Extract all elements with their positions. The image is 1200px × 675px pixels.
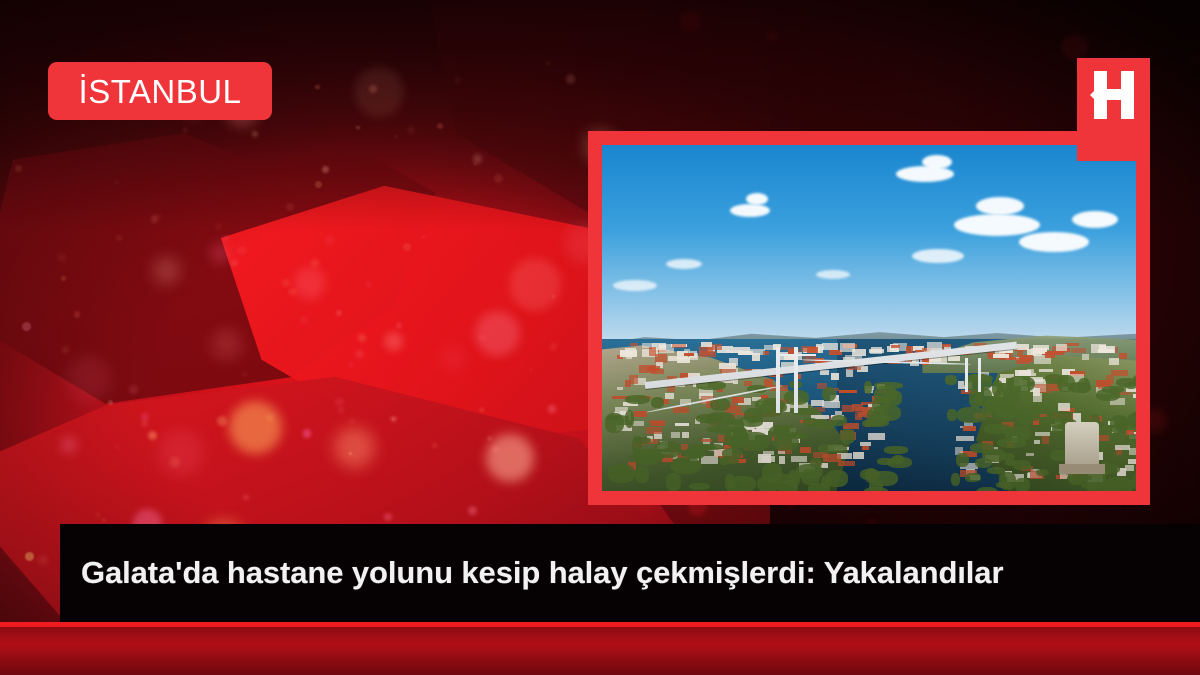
- photo-shading: [602, 145, 1136, 491]
- bottom-strip: [0, 627, 1200, 675]
- headline-accent-rule: [0, 622, 1200, 627]
- headline-bar: Galata'da hastane yolunu kesip halay çek…: [60, 524, 1200, 622]
- photo-frame: [588, 131, 1150, 505]
- location-badge-label: İSTANBUL: [79, 75, 242, 108]
- brand-logo[interactable]: [1077, 58, 1150, 161]
- news-card: İSTANBUL: [0, 0, 1200, 675]
- headline-text: Galata'da hastane yolunu kesip halay çek…: [60, 555, 1003, 590]
- location-badge[interactable]: İSTANBUL: [48, 62, 272, 120]
- photo-image: [602, 145, 1136, 491]
- h-letter-logo-icon: [1077, 58, 1150, 131]
